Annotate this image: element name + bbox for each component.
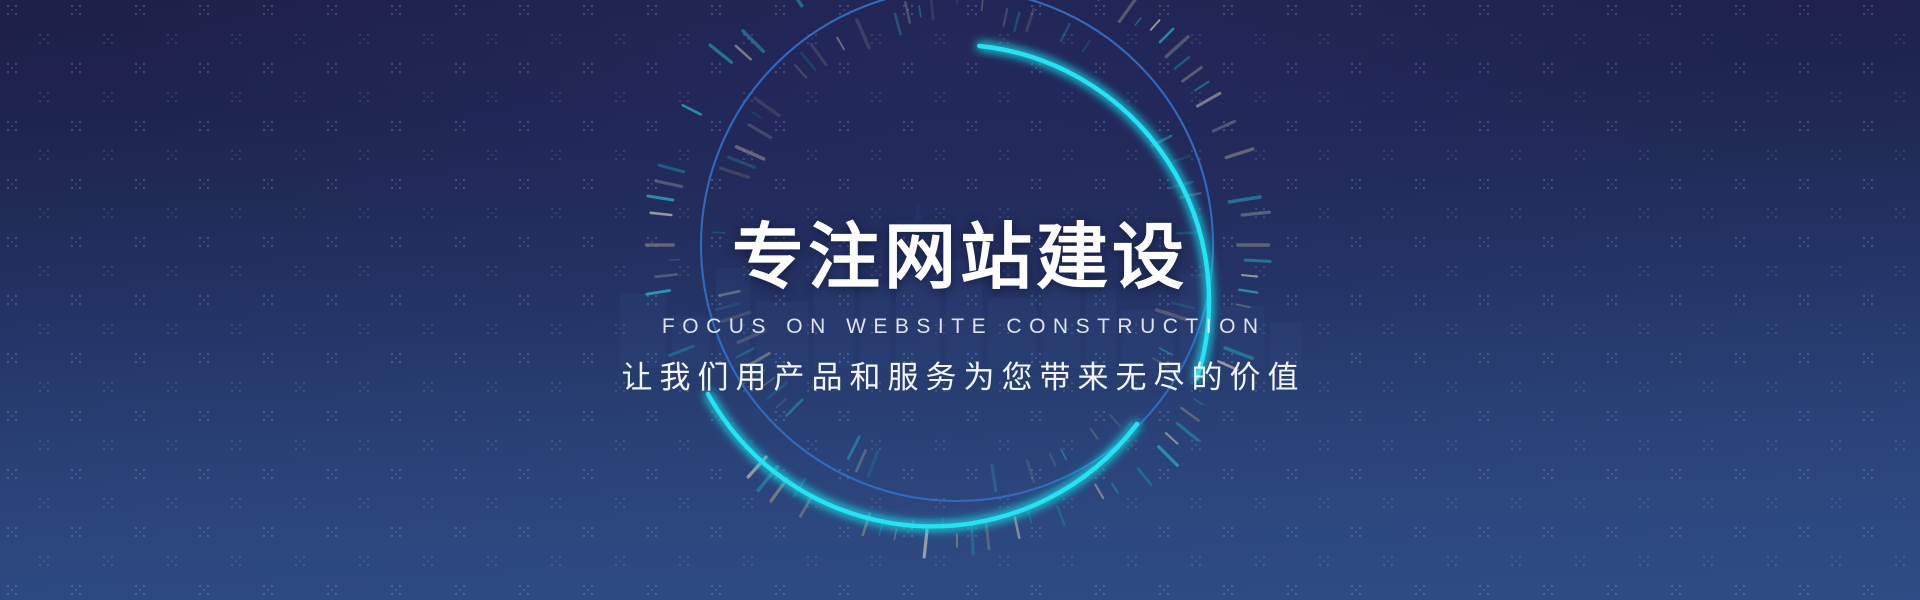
hero-banner: 专注网站建设 FOCUS ON WEBSITE CONSTRUCTION 让我们… bbox=[0, 0, 1920, 600]
banner-tagline: 让我们用产品和服务为您带来无尽的价值 bbox=[615, 362, 1306, 393]
banner-subline-english: FOCUS ON WEBSITE CONSTRUCTION bbox=[654, 316, 1265, 337]
banner-text-block: 专注网站建设 FOCUS ON WEBSITE CONSTRUCTION 让我们… bbox=[0, 0, 1920, 600]
banner-headline: 专注网站建设 bbox=[732, 222, 1188, 294]
